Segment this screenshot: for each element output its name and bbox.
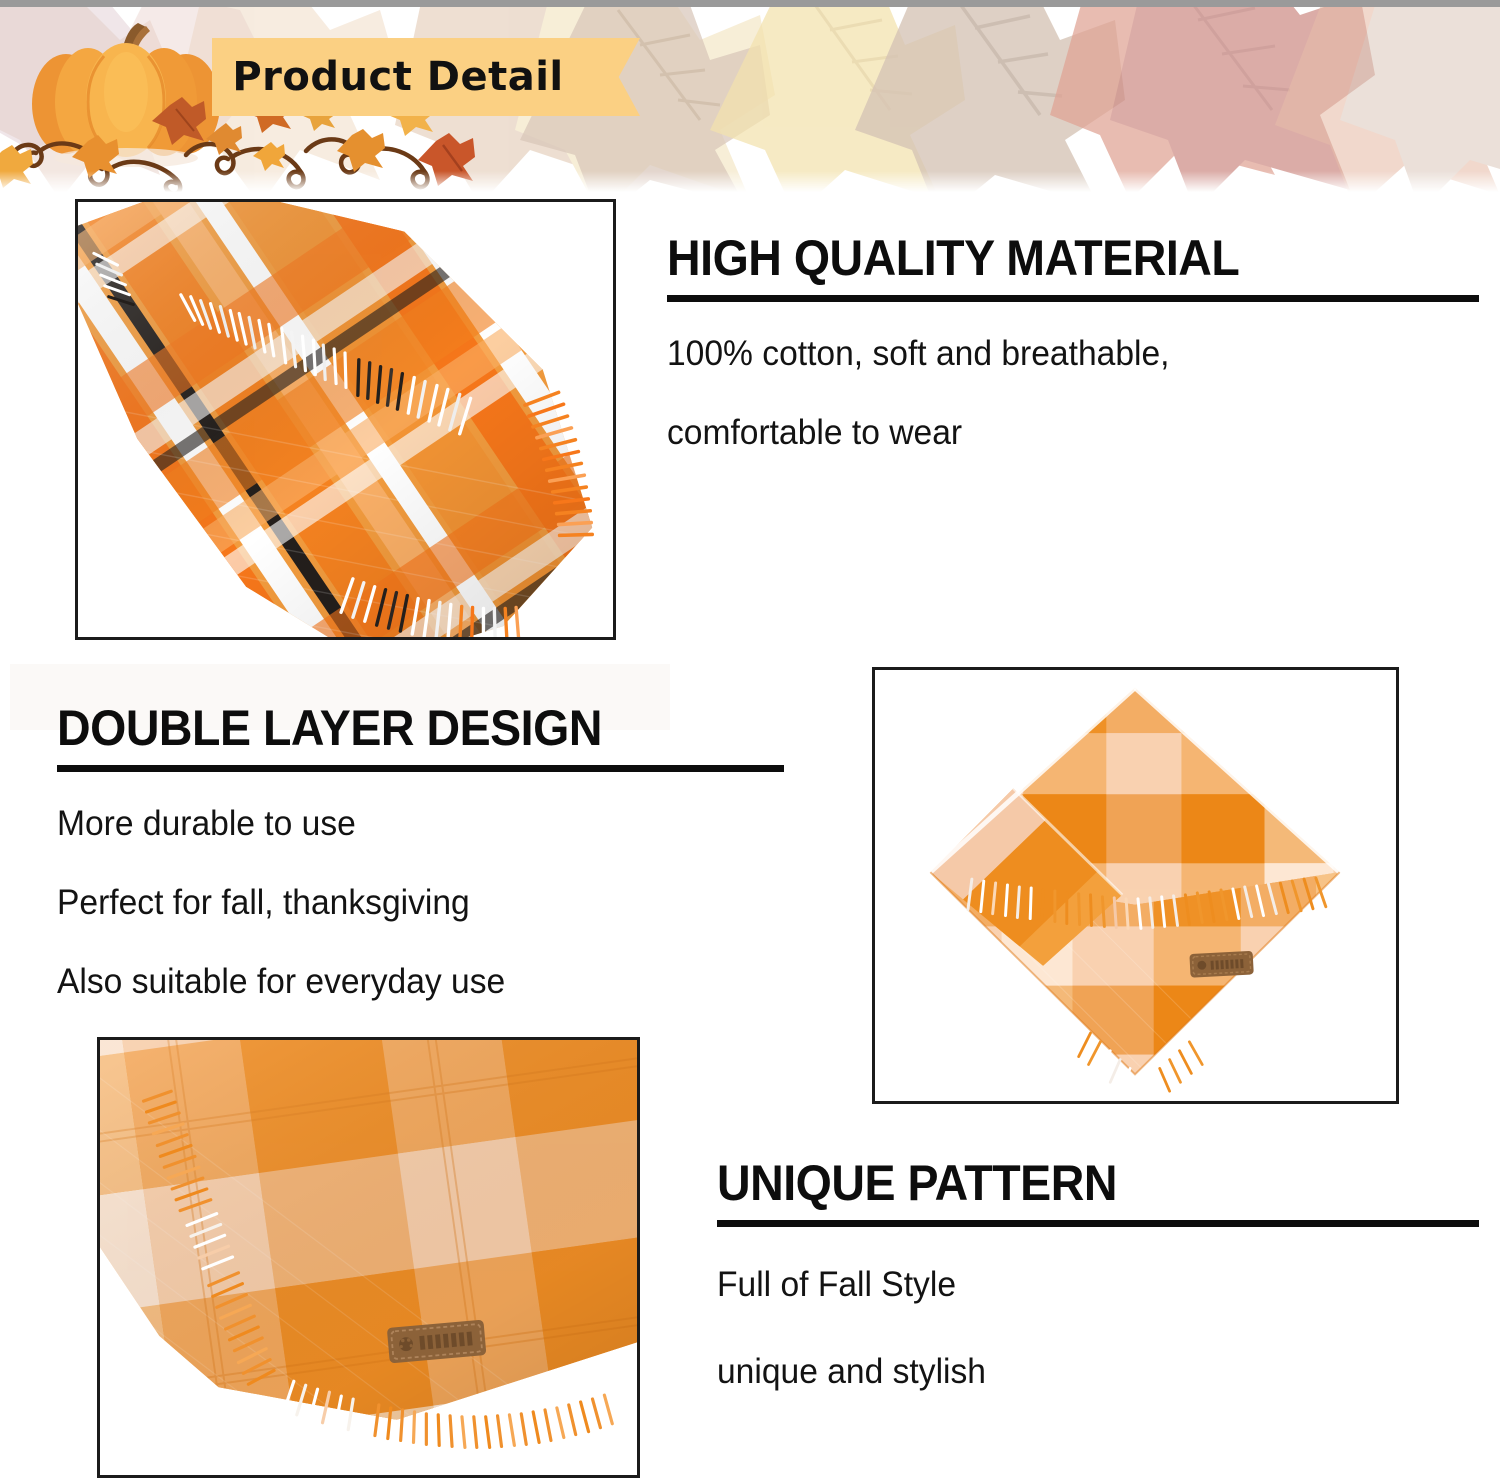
leather-brand-tag xyxy=(1189,951,1253,978)
feature-lines: 100% cotton, soft and breathable, comfor… xyxy=(667,336,1479,450)
feature-line: Perfect for fall, thanksgiving xyxy=(57,885,755,920)
feature-block-unique-pattern: UNIQUE PATTERN Full of Fall Style unique… xyxy=(717,1158,1479,1389)
heading-rule xyxy=(717,1220,1479,1227)
header-top-divider xyxy=(0,0,1500,7)
feature-block-high-quality-material: HIGH QUALITY MATERIAL 100% cotton, soft … xyxy=(667,233,1479,450)
banner-title: Product Detail xyxy=(212,38,584,116)
feature-line: Also suitable for everyday use xyxy=(57,964,755,999)
heading-rule xyxy=(57,765,784,772)
feature-heading: UNIQUE PATTERN xyxy=(717,1158,1426,1209)
feature-heading: DOUBLE LAYER DESIGN xyxy=(57,703,733,754)
feature-heading: HIGH QUALITY MATERIAL xyxy=(667,233,1422,284)
feature-line: More durable to use xyxy=(57,806,755,841)
product-detail-page: Product Detail xyxy=(0,0,1500,1481)
feature-line: comfortable to wear xyxy=(667,415,1447,450)
heading-rule xyxy=(667,295,1479,302)
product-photo-folded-triangle-bandana[interactable] xyxy=(872,667,1399,1104)
product-photo-flat-plaid-corner[interactable] xyxy=(97,1037,640,1478)
feature-lines: More durable to use Perfect for fall, th… xyxy=(57,806,784,999)
header-banner: Product Detail xyxy=(0,0,1500,205)
feature-line: unique and stylish xyxy=(717,1354,1449,1389)
feature-block-double-layer-design: DOUBLE LAYER DESIGN More durable to use … xyxy=(57,703,784,999)
feature-line: Full of Fall Style xyxy=(717,1267,1449,1302)
feature-lines: Full of Fall Style unique and stylish xyxy=(717,1267,1479,1389)
feature-line: 100% cotton, soft and breathable, xyxy=(667,336,1447,371)
product-photo-fringed-plaid-closeup[interactable] xyxy=(75,199,616,640)
